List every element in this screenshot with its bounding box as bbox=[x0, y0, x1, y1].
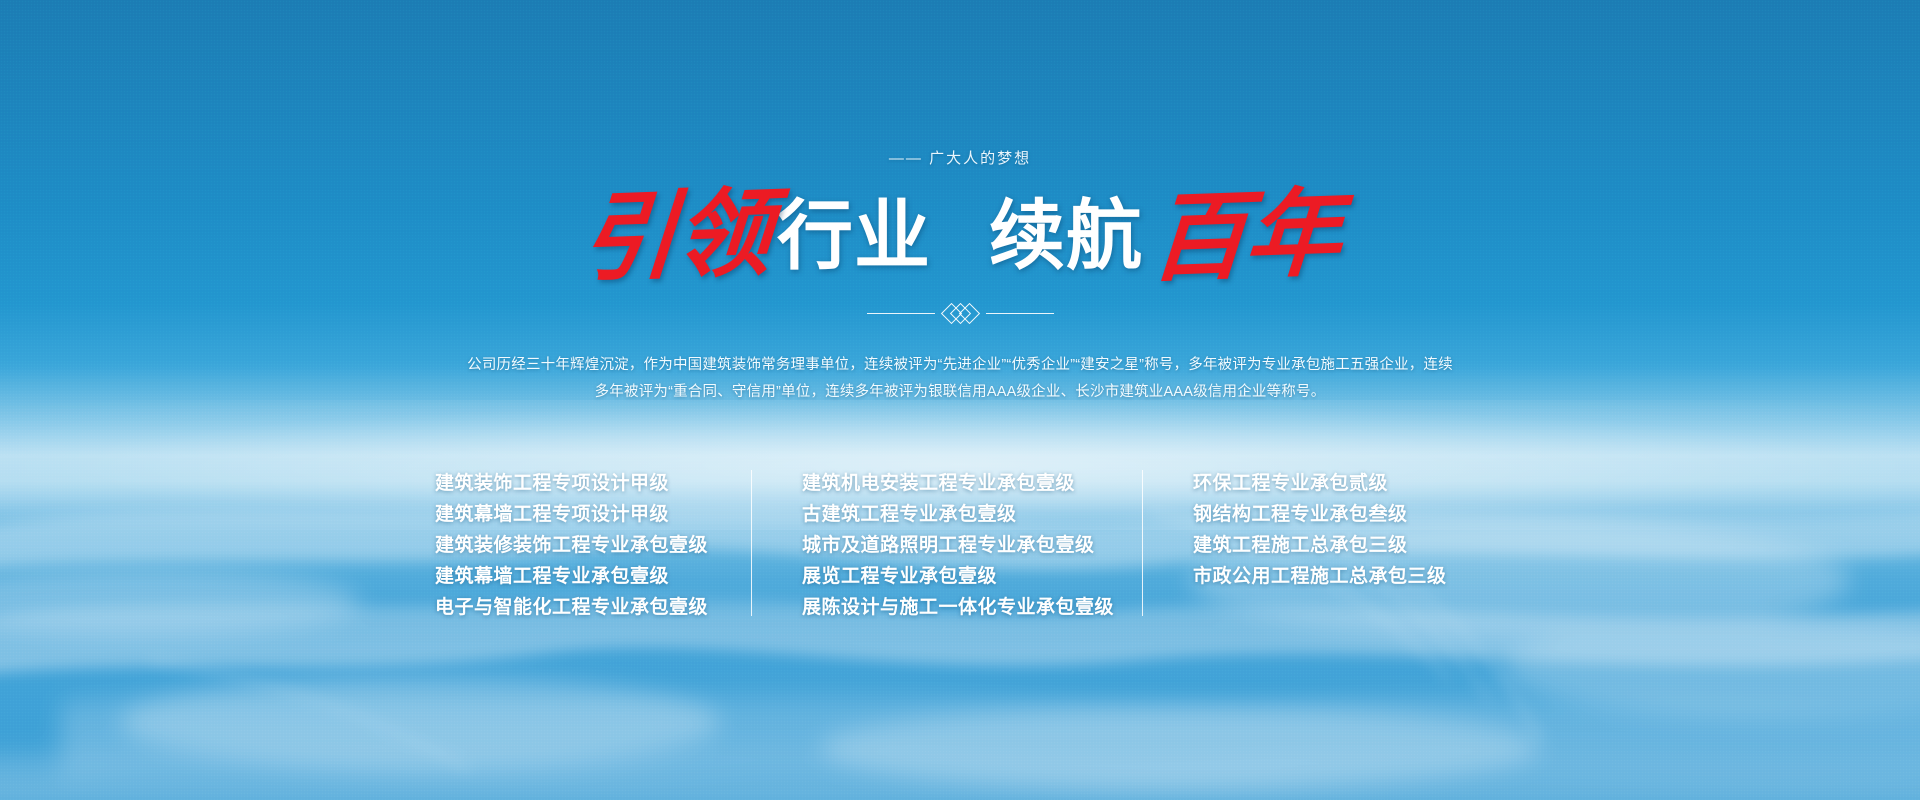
company-intro: 公司历经三十年辉煌沉淀，作为中国建筑装饰常务理事单位，连续被评为“先进企业”“优… bbox=[430, 352, 1490, 406]
banner-stage: —— 广大人的梦想 引领 行业 续航 百年 公司历经三十年辉煌沉淀，作为中国建筑… bbox=[0, 0, 1920, 800]
qualification-item: 钢结构工程专业承包叁级 bbox=[1193, 499, 1499, 530]
qualification-column-1: 建筑装饰工程专项设计甲级 建筑幕墙工程专项设计甲级 建筑装修装饰工程专业承包壹级… bbox=[421, 468, 751, 623]
qualification-item: 电子与智能化工程专业承包壹级 bbox=[435, 592, 751, 623]
divider-diamonds bbox=[947, 306, 974, 321]
qualification-item: 建筑幕墙工程专业承包壹级 bbox=[435, 561, 751, 592]
qualification-item: 建筑机电安装工程专业承包壹级 bbox=[802, 468, 1142, 499]
qualification-item: 城市及道路照明工程专业承包壹级 bbox=[802, 530, 1142, 561]
banner-headline: 引领 行业 续航 百年 bbox=[579, 182, 1341, 292]
banner-tagline: —— 广大人的梦想 bbox=[889, 147, 1031, 168]
qualification-item: 建筑幕墙工程专项设计甲级 bbox=[435, 499, 751, 530]
qualification-columns: 建筑装饰工程专项设计甲级 建筑幕墙工程专项设计甲级 建筑装修装饰工程专业承包壹级… bbox=[410, 468, 1510, 623]
diamond-divider-icon bbox=[830, 300, 1090, 326]
qualification-item: 展览工程专业承包壹级 bbox=[802, 561, 1142, 592]
qualification-item: 建筑装饰工程专项设计甲级 bbox=[435, 468, 751, 499]
headline-part-industry: 行业 bbox=[771, 199, 937, 275]
headline-part-endurance: 续航 bbox=[983, 199, 1149, 275]
qualification-column-3: 环保工程专业承包贰级 钢结构工程专业承包叁级 建筑工程施工总承包三级 市政公用工… bbox=[1143, 468, 1499, 592]
divider-line-left bbox=[867, 313, 935, 314]
company-intro-line-1: 公司历经三十年辉煌沉淀，作为中国建筑装饰常务理事单位，连续被评为“先进企业”“优… bbox=[430, 352, 1490, 379]
headline-part-century: 百年 bbox=[1145, 186, 1344, 289]
qualification-item: 环保工程专业承包贰级 bbox=[1193, 468, 1499, 499]
qualification-item: 古建筑工程专业承包壹级 bbox=[802, 499, 1142, 530]
qualification-column-2: 建筑机电安装工程专业承包壹级 古建筑工程专业承包壹级 城市及道路照明工程专业承包… bbox=[752, 468, 1142, 623]
qualification-item: 市政公用工程施工总承包三级 bbox=[1193, 561, 1499, 592]
qualification-item: 建筑装修装饰工程专业承包壹级 bbox=[435, 530, 751, 561]
banner-content: —— 广大人的梦想 引领 行业 续航 百年 公司历经三十年辉煌沉淀，作为中国建筑… bbox=[0, 0, 1920, 800]
qualification-item: 展陈设计与施工一体化专业承包壹级 bbox=[802, 592, 1142, 623]
headline-part-lead: 引领 bbox=[575, 186, 774, 289]
company-intro-line-2: 多年被评为“重合同、守信用”单位，连续多年被评为银联信用AAA级企业、长沙市建筑… bbox=[430, 379, 1490, 406]
qualification-item: 建筑工程施工总承包三级 bbox=[1193, 530, 1499, 561]
divider-line-right bbox=[986, 313, 1054, 314]
